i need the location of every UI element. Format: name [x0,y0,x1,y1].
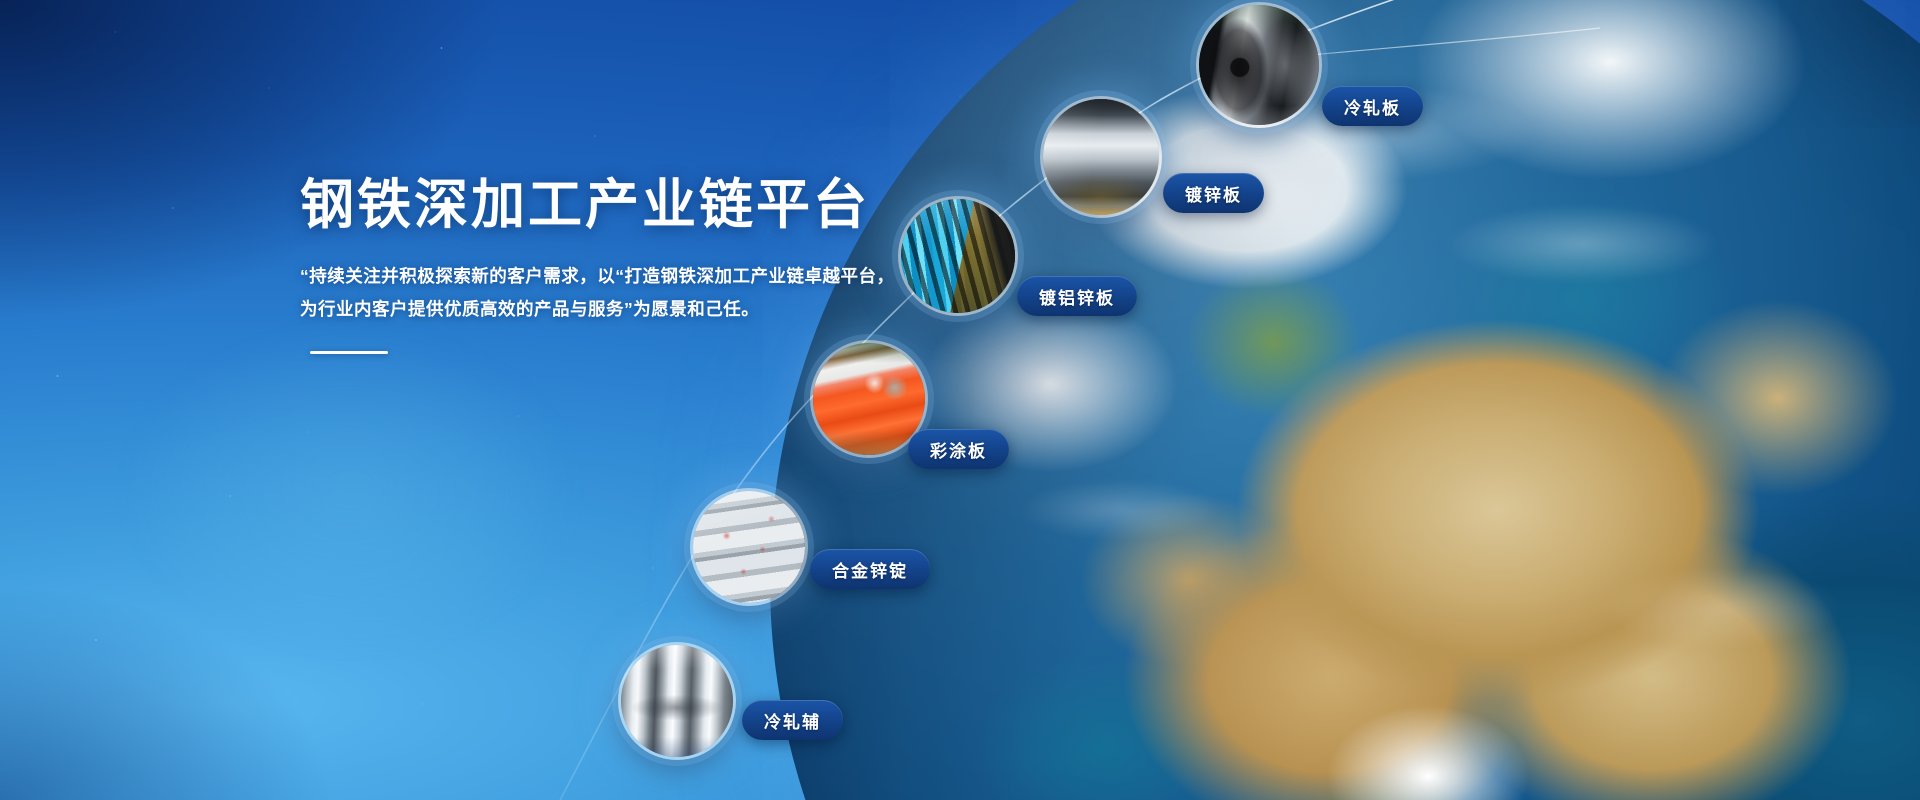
product-label-color-coated-plate[interactable]: 彩涂板 [908,429,1009,469]
hero-banner: 钢铁深加工产业链平台 “持续关注并积极探索新的客户需求，以“打造钢铁深加工产业链… [0,0,1920,800]
coil-warehouse-aisle-photo [1043,99,1159,215]
vignette-bottom-left [0,500,520,800]
product-chain-arc [0,0,1920,800]
product-thumb-zinc-alloy-ingot[interactable] [690,488,808,606]
page-title: 钢铁深加工产业链平台 [300,176,920,234]
starfield-texture [0,0,1920,800]
hero-subtitle-line-2: 为行业内客户提供优质高效的产品与服务”为愿景和己任。 [300,293,920,325]
title-underline-rule [310,351,388,354]
steel-coils-row-photo [1199,5,1319,125]
product-label-zinc-alloy-ingot[interactable]: 合金锌锭 [810,549,930,589]
stacked-zinc-ingots-photo [693,491,805,603]
hero-copy-block: 钢铁深加工产业链平台 “持续关注并积极探索新的客户需求，以“打造钢铁深加工产业链… [300,176,920,354]
orange-color-coated-coils-photo [813,343,925,455]
product-thumb-aluzinc-plate[interactable] [898,196,1018,316]
product-thumb-galvanized-plate[interactable] [1040,96,1162,218]
product-label-galvanized-plate[interactable]: 镀锌板 [1163,173,1264,213]
product-thumb-cold-rolled-plate[interactable] [1196,2,1322,128]
hero-subtitle-line-1: “持续关注并积极探索新的客户需求，以“打造钢铁深加工产业链卓越平台， [300,260,920,292]
product-label-aluzinc-plate[interactable]: 镀铝锌板 [1017,276,1137,316]
polished-steel-rollers-photo [621,645,733,757]
product-thumb-cold-rolling-roller[interactable] [618,642,736,760]
blue-coated-sheet-line-photo [901,199,1015,313]
product-label-cold-rolled-plate[interactable]: 冷轧板 [1322,86,1423,126]
hero-subtitle: “持续关注并积极探索新的客户需求，以“打造钢铁深加工产业链卓越平台， 为行业内客… [300,260,920,325]
product-label-cold-rolling-roller[interactable]: 冷轧辅 [742,700,843,740]
